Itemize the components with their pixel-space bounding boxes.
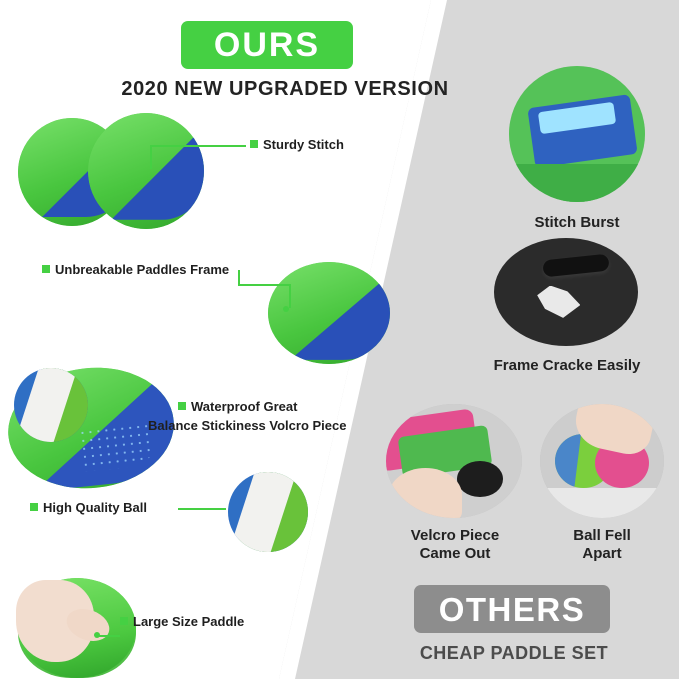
- callout-large-size-paddle: Large Size Paddle: [120, 614, 244, 630]
- bullet-icon: [250, 140, 258, 148]
- leader-line-sturdy-stitch-drop: [150, 145, 152, 169]
- bullet-icon: [42, 265, 50, 273]
- leader-line-frame-drop2: [289, 284, 291, 308]
- callout-unbreakable-frame-label: Unbreakable Paddles Frame: [55, 262, 229, 277]
- callout-waterproof-label: Waterproof Great: [191, 399, 297, 414]
- leader-line-ball: [178, 508, 226, 510]
- ours-banner: OURS: [181, 21, 353, 69]
- others-subtitle: CHEAP PADDLE SET: [394, 643, 634, 664]
- bullet-icon: [178, 402, 186, 410]
- callout-unbreakable-frame: Unbreakable Paddles Frame: [42, 262, 229, 278]
- leader-line-frame-drop: [238, 270, 240, 286]
- caption-stitch-burst: Stitch Burst: [501, 214, 653, 232]
- leader-line-frame: [238, 284, 290, 286]
- caption-frame-crack: Frame Cracke Easily: [462, 357, 672, 375]
- others-banner: OTHERS: [414, 585, 610, 633]
- paddle-edge: [509, 164, 645, 202]
- caption-ball-fell-apart: Ball Fell Apart: [534, 527, 670, 563]
- leader-line-sturdy-stitch: [150, 145, 246, 147]
- counter-surface: [540, 488, 664, 518]
- fingers: [389, 468, 462, 518]
- photo-stitch-burst: [509, 66, 645, 202]
- leader-line-large-paddle: [98, 635, 120, 637]
- photo-frame-crack: [494, 238, 638, 346]
- callout-large-size-paddle-label: Large Size Paddle: [133, 614, 244, 629]
- infographic-root: OURS 2020 NEW UPGRADED VERSION: [0, 0, 679, 679]
- callout-balance-stickiness: Balance Stickiness Volcro Piece: [148, 418, 346, 434]
- tennis-ball-on-paddle: [14, 368, 88, 442]
- paddle-disc-2: [88, 113, 204, 229]
- bullet-icon: [120, 617, 128, 625]
- hand-holding-paddle: [6, 552, 112, 670]
- photo-ball-fell-apart: [540, 404, 664, 518]
- callout-balance-stickiness-label: Balance Stickiness Volcro Piece: [148, 418, 346, 433]
- ours-banner-label: OURS: [214, 28, 320, 62]
- tennis-ball-standalone: [228, 472, 308, 552]
- photo-velcro-came-out: [386, 404, 522, 518]
- others-banner-label: OTHERS: [439, 593, 586, 626]
- callout-high-quality-ball: High Quality Ball: [30, 500, 147, 516]
- callout-waterproof: Waterproof Great: [178, 399, 297, 415]
- paddle-disc-3: [268, 262, 390, 364]
- callout-sturdy-stitch: Sturdy Stitch: [250, 137, 344, 153]
- bullet-icon: [30, 503, 38, 511]
- ours-subtitle: 2020 NEW UPGRADED VERSION: [110, 78, 460, 101]
- callout-sturdy-stitch-label: Sturdy Stitch: [263, 137, 344, 152]
- callout-high-quality-ball-label: High Quality Ball: [43, 500, 147, 515]
- caption-velcro-came-out: Velcro Piece Came Out: [380, 527, 530, 563]
